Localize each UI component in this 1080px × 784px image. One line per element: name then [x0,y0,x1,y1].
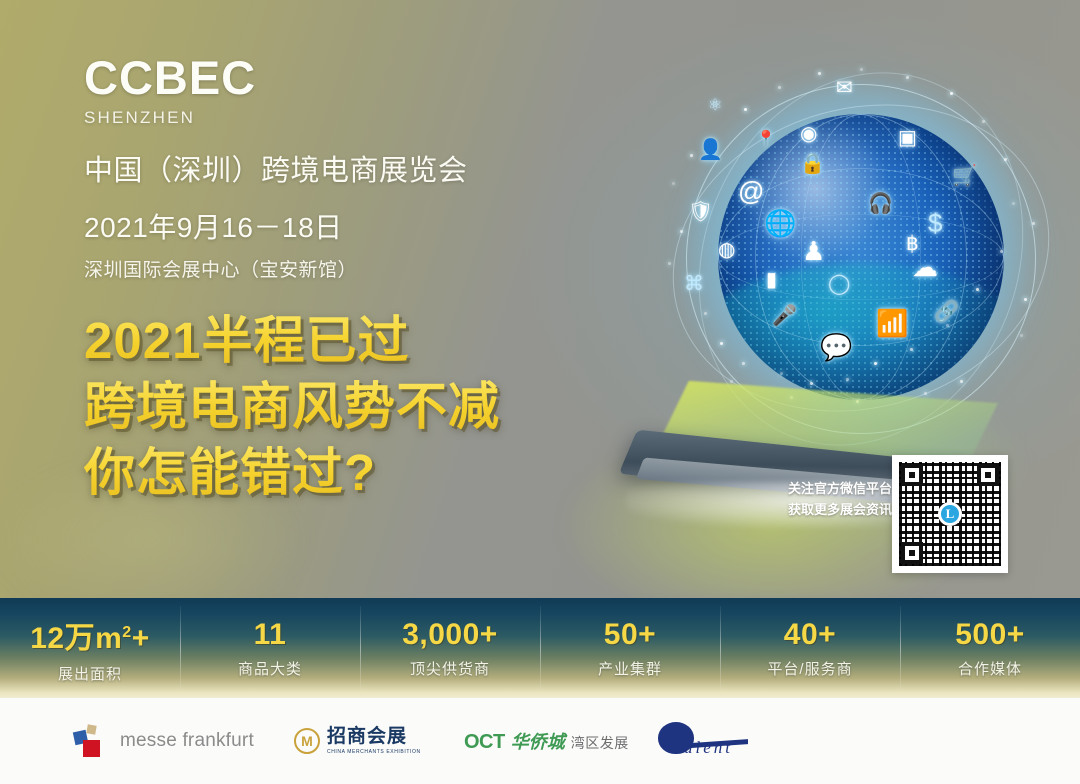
qr-finder-top-left [901,464,923,486]
lock-icon: 🔒 [800,154,825,174]
stat-value-superscript: 2 [122,624,131,641]
stat-label: 平台/服务商 [767,658,852,679]
sparkle-dot [720,342,723,345]
sparkle-dot [1012,202,1015,205]
slogan-line-1: 2021半程已过 [84,308,500,374]
stat-label: 合作媒体 [958,658,1022,679]
sparkle-dot [906,76,909,79]
qr-finder-bottom-left [901,542,923,564]
stat-value: 11 [254,618,287,652]
sparkle-dot [960,380,963,383]
sparkle-dot [950,92,953,95]
sparkle-dot [1024,298,1027,301]
qr-caption-line-2: 获取更多展会资讯 [780,500,892,521]
qr-finder-top-right [977,464,999,486]
mf-red-square-icon [83,740,100,757]
search-icon: ◯ [828,274,850,294]
slogan-line-2: 跨境电商风势不减 [84,374,500,440]
qr-code[interactable]: L [892,455,1008,573]
logo-oct[interactable]: OCT 华侨城 湾区发展 [464,728,654,754]
sparkle-dot [742,362,745,365]
logo-messe-frankfurt[interactable]: messe frankfurt [74,724,294,758]
cme-text-group: 招商会展 CHINA MERCHANTS EXHIBITION [327,727,421,755]
messe-frankfurt-label: messe frankfurt [120,730,254,752]
stat-value: 3,000+ [402,618,498,652]
microphone-icon: 🎤 [772,306,797,326]
sparkle-dot [874,362,877,365]
stat-value: 12万m2+ [30,613,149,657]
shopping-cart-icon: 🛒 [952,166,977,186]
oct-label-en: OCT [464,731,505,754]
upload-mail-icon: ✉ [836,78,853,98]
event-date: 2021年9月16－18日 [84,206,468,246]
stat-label: 产业集群 [598,658,662,679]
stat-label: 展出面积 [58,663,122,684]
sparkle-dot [778,86,781,89]
oct-label-tail: 湾区发展 [571,733,629,753]
stat-item: 12万m2+展出面积 [0,598,180,698]
talent-label: alent [684,738,733,758]
dollar-icon: $ [928,210,942,236]
camera-icon: ▣ [898,128,917,148]
stat-item: 3,000+顶尖供货商 [360,598,540,698]
sparkle-dot [846,378,849,381]
sparkle-dot [780,372,783,375]
logo-china-merchants-exhibition[interactable]: M 招商会展 CHINA MERCHANTS EXHIBITION [294,727,464,755]
partner-logo-bar: messe frankfurt M 招商会展 CHINA MERCHANTS E… [0,698,1080,784]
sparkle-dot [818,72,821,75]
sparkle-dot [810,382,813,385]
shield-lock-icon: 🛡 [688,202,713,222]
qr-center-logo-icon: L [938,502,962,526]
stat-value: 50+ [604,618,656,652]
sparkle-dot [1020,334,1023,337]
qr-caption-line-1: 关注官方微信平台 [780,479,892,500]
wifi-icon: 📶 [876,310,908,336]
chat-bubble-icon: 💬 [820,334,852,360]
slogan-line-3: 你怎能错过? [84,440,500,506]
brand-subtitle: SHENZHEN [84,108,468,128]
location-pin-icon: 📍 [756,132,776,148]
stat-item: 11商品大类 [180,598,360,698]
user-group-icon: 👤 [698,140,723,160]
stat-value: 40+ [784,618,836,652]
molecule-icon: ⚛ [708,98,722,114]
eye-icon: ◉ [800,124,817,144]
sparkle-dot [744,108,747,111]
sparkle-dot [668,262,671,265]
poster-banner: ⚛✉◉📍▣🔒👤@🛡🌐◍🎧$฿🛒⌘♟▮◯☁🎤📶💬🔗 CCBEC SHENZHEN … [0,0,1080,784]
oct-label-cn: 华侨城 [511,728,565,754]
cme-label-en: CHINA MERCHANTS EXHIBITION [327,749,421,755]
stat-item: 40+平台/服务商 [720,598,900,698]
event-name-cn: 中国（深圳）跨境电商展览会 [84,147,468,189]
stat-label: 顶尖供货商 [410,658,490,679]
mf-tan-square-icon [86,724,96,734]
event-venue: 深圳国际会展中心（宝安新馆） [84,255,468,282]
messe-frankfurt-mark-icon [74,724,108,758]
sparkle-dot [982,120,985,123]
sparkle-dot [1032,222,1035,225]
bar-chart-icon: ▮ [766,270,777,290]
stat-value: 500+ [955,618,1025,652]
slogan-block: 2021半程已过 跨境电商风势不减 你怎能错过? [84,308,500,505]
sparkle-dot [1000,250,1003,253]
cloud-icon: ☁ [912,254,938,280]
sparkle-dot [910,348,913,351]
sparkle-dot [860,68,863,71]
cme-emblem-icon: M [294,728,320,754]
sparkle-dot [730,380,733,383]
logo-talent[interactable]: alent [654,720,814,762]
stat-item: 500+合作媒体 [900,598,1080,698]
brand-title: CCBEC [84,54,468,101]
stat-item: 50+产业集群 [540,598,720,698]
sparkle-dot [946,324,949,327]
person-avatar-icon: ♟ [802,238,825,264]
stats-bar: 12万m2+展出面积11商品大类3,000+顶尖供货商50+产业集群40+平台/… [0,598,1080,698]
qr-code-pattern: L [899,462,1001,566]
network-node-icon: ⌘ [684,274,704,294]
headset-icon: 🎧 [868,194,893,214]
bitcoin-icon: ฿ [906,234,919,254]
sparkle-dot [924,392,927,395]
link-icon: 🔗 [934,302,959,322]
brand-block: CCBEC SHENZHEN 中国（深圳）跨境电商展览会 2021年9月16－1… [84,54,468,282]
sparkle-dot [976,288,979,291]
sparkle-dot [690,154,693,157]
stat-label: 商品大类 [238,658,302,679]
hero-section: ⚛✉◉📍▣🔒👤@🛡🌐◍🎧$฿🛒⌘♟▮◯☁🎤📶💬🔗 CCBEC SHENZHEN … [0,0,1080,598]
sparkle-dot [672,182,675,185]
sparkle-dot [680,230,683,233]
sparkle-dot [704,312,707,315]
qr-block: 关注官方微信平台 获取更多展会资讯 L [780,455,1010,577]
qr-caption: 关注官方微信平台 获取更多展会资讯 [780,479,892,521]
globe-grid-icon: 🌐 [764,210,796,236]
at-sign-icon: @ [738,178,764,204]
wireframe-globe-icon: ◍ [718,240,735,260]
cme-label-cn: 招商会展 [327,727,421,747]
sparkle-dot [1004,158,1007,161]
